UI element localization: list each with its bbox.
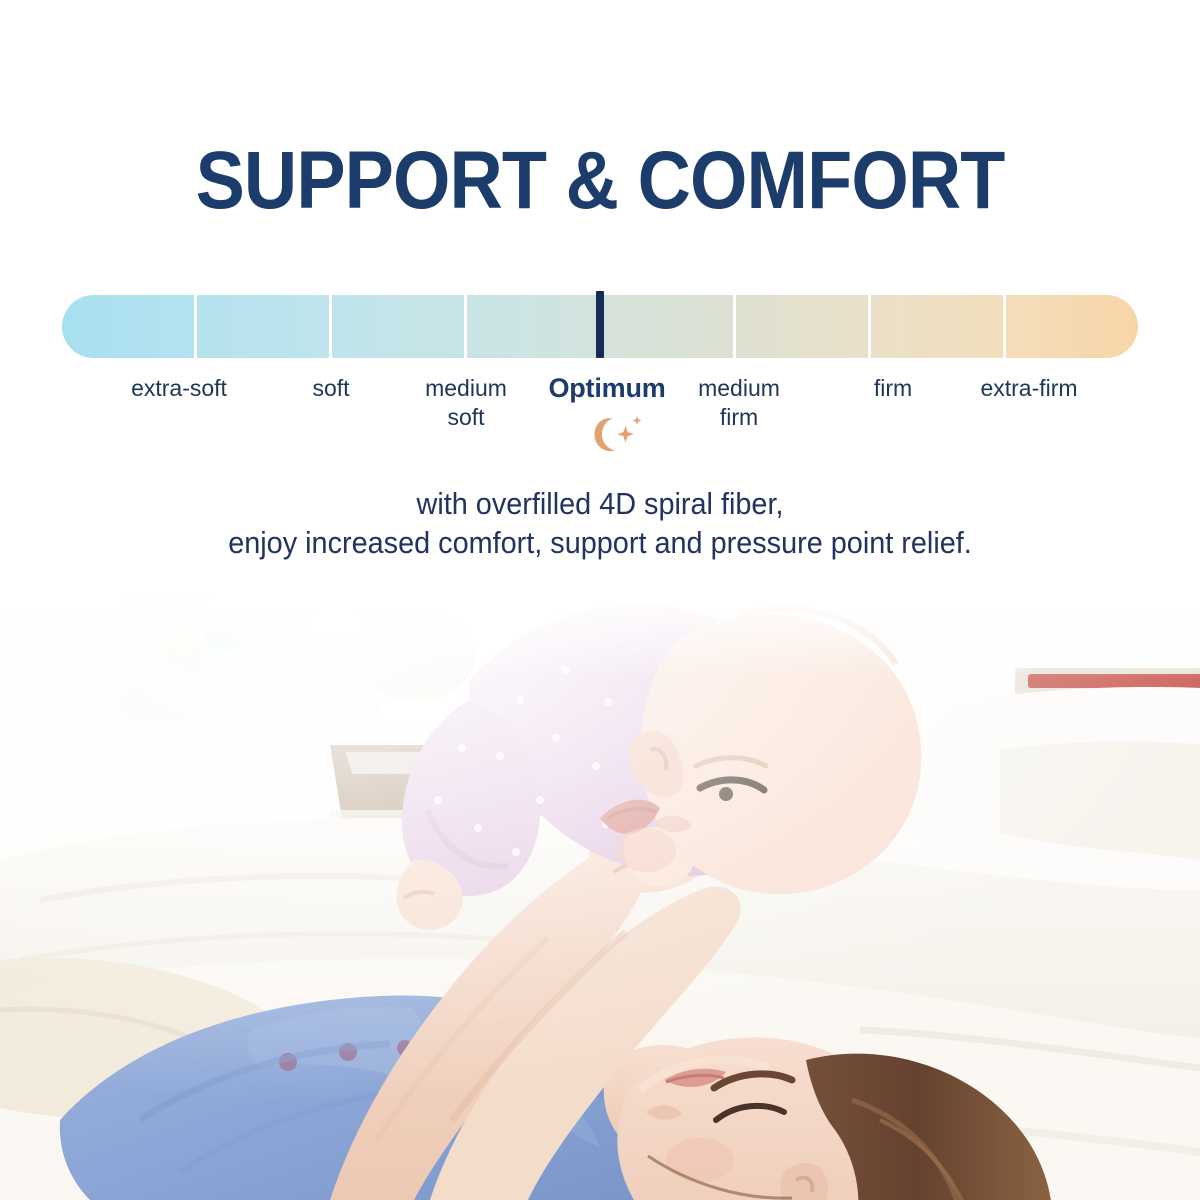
scale-segment-medium-firm — [736, 295, 871, 358]
firmness-marker — [596, 291, 604, 358]
scale-label-optimum: Optimum — [548, 374, 665, 403]
scale-label-medium-soft: medium soft — [425, 374, 507, 432]
page-title: SUPPORT & COMFORT — [60, 138, 1140, 224]
scale-segment-extra-soft — [62, 295, 197, 358]
scale-segment-firm — [871, 295, 1006, 358]
scale-segment-4 — [467, 295, 602, 358]
firmness-scale — [62, 295, 1138, 358]
scale-label-medium-firm: medium firm — [698, 374, 780, 432]
scale-segment-soft — [197, 295, 332, 358]
crescent-moon-icon — [580, 408, 652, 460]
description-text: with overfilled 4D spiral fiber, enjoy i… — [42, 484, 1158, 562]
scale-segment-5 — [602, 295, 737, 358]
scale-label-firm: firm — [874, 374, 912, 403]
scale-label-extra-firm: extra-firm — [980, 374, 1077, 403]
scale-segment-medium-soft — [332, 295, 467, 358]
scale-label-soft: soft — [312, 374, 349, 403]
scale-label-extra-soft: extra-soft — [131, 374, 227, 403]
lifestyle-photo — [0, 560, 1200, 1200]
scale-segment-extra-firm — [1006, 295, 1138, 358]
infographic-page: SUPPORT & COMFORT extra-softsoftmedium s… — [0, 0, 1200, 1200]
